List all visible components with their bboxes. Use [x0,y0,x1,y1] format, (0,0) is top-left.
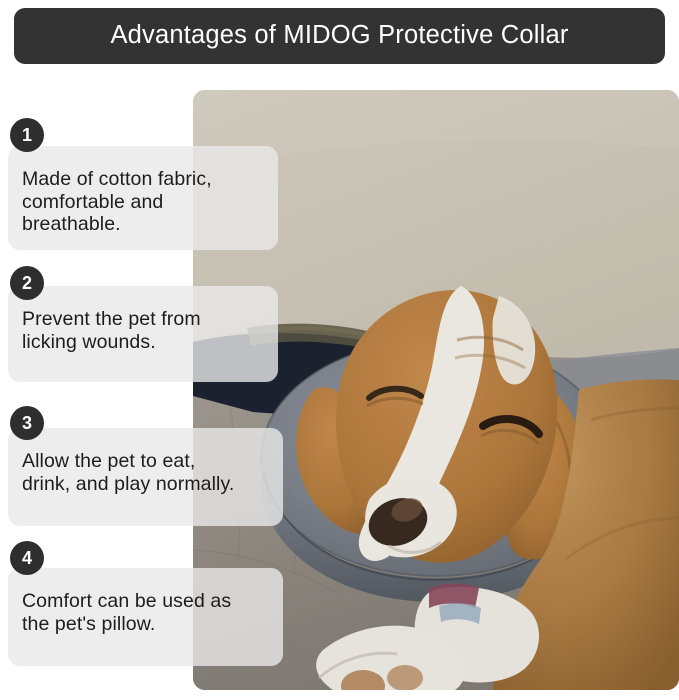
feature-badge-2: 2 [10,266,44,300]
feature-badge-3: 3 [10,406,44,440]
feature-text-3: Allow the pet to eat, drink, and play no… [22,450,269,495]
feature-card-2: Prevent the pet from licking wounds. [8,286,278,382]
feature-card-1: Made of cotton fabric, comfortable and b… [8,146,278,250]
feature-badge-1: 1 [10,118,44,152]
feature-card-4: Comfort can be used as the pet's pillow. [8,568,283,666]
feature-badge-4: 4 [10,541,44,575]
feature-text-1: Made of cotton fabric, comfortable and b… [22,168,264,236]
feature-card-3: Allow the pet to eat, drink, and play no… [8,428,283,526]
feature-text-2: Prevent the pet from licking wounds. [22,308,264,353]
feature-text-4: Comfort can be used as the pet's pillow. [22,590,269,635]
feature-list: Made of cotton fabric, comfortable and b… [0,0,679,700]
